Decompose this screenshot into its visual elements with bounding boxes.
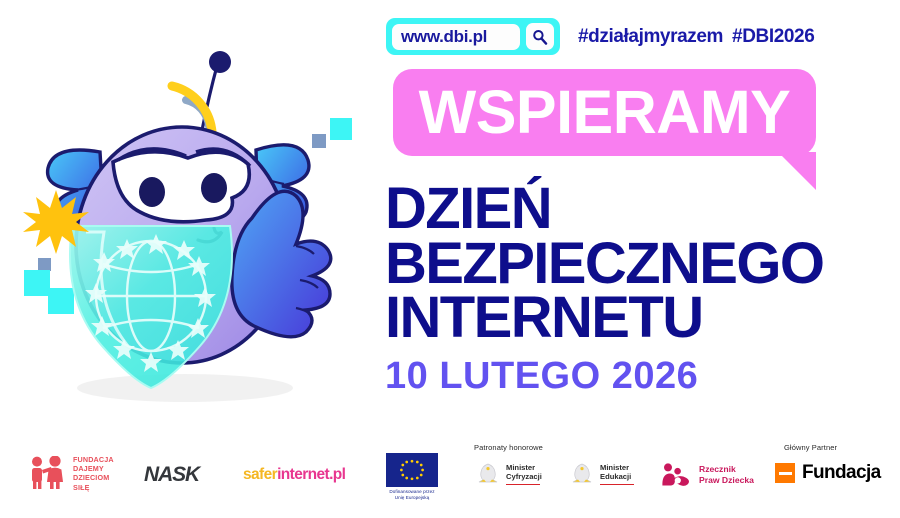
rpd-figures-icon [660, 462, 694, 488]
logo-fundacja-orange: Fundacja [775, 462, 881, 484]
minister-cyfryzacji-underline [506, 484, 540, 486]
fdds-line-1: FUNDACJA [73, 455, 114, 464]
saferinternet-part-2: internet.pl [277, 466, 345, 483]
logo-eu-funding: Dofinansowane przez Unię Europejską [386, 453, 438, 501]
eu-caption-line-2: Unię Europejską [389, 495, 434, 501]
minister-edukacji-line-2: Edukacji [600, 472, 634, 482]
hashtag-dzialajmyrazem: #działajmyrazem [578, 26, 723, 47]
speech-bubble: WSPIERAMY [393, 69, 816, 189]
headline-line-1: DZIEŃ [385, 182, 895, 237]
decor-star-icon [22, 188, 90, 256]
search-input[interactable]: www.dbi.pl [392, 24, 520, 50]
main-partner-label: Główny Partner [784, 443, 837, 452]
headline-block: DZIEŃ BEZPIECZNEGO INTERNETU 10 LUTEGO 2… [385, 182, 895, 398]
polish-eagle-icon [474, 460, 502, 488]
logo-nask: NASK [144, 463, 199, 487]
search-icon [532, 29, 548, 45]
search-input-value: www.dbi.pl [401, 27, 487, 47]
minister-cyfryzacji-line-2: Cyfryzacji [506, 472, 542, 482]
rpd-line-2: Praw Dziecka [699, 475, 754, 486]
eu-flag-icon [386, 453, 438, 487]
rpd-line-1: Rzecznik [699, 464, 754, 475]
fdds-line-3: DZIECIOM [73, 473, 114, 482]
logo-minister-cyfryzacji: Minister Cyfryzacji [474, 460, 542, 488]
logo-saferinternet: saferinternet.pl [243, 466, 345, 484]
minister-edukacji-line-1: Minister [600, 463, 634, 473]
footer-logos: FUNDACJA DAJEMY DZIECIOM SIŁĘ NASK safer… [0, 437, 900, 518]
saferinternet-part-1: safer [243, 466, 277, 483]
search-row: www.dbi.pl #działajmyrazem#DBI2026 [386, 18, 814, 55]
hashtags: #działajmyrazem#DBI2026 [578, 26, 814, 48]
search-button[interactable] [526, 23, 554, 50]
headline-line-3: INTERNETU [385, 291, 895, 346]
hashtag-dbi2026: #DBI2026 [732, 26, 814, 47]
event-date: 10 LUTEGO 2026 [385, 355, 895, 398]
fundacja-text: Fundacja [802, 462, 881, 484]
minister-cyfryzacji-line-1: Minister [506, 463, 542, 473]
polish-eagle-icon [568, 460, 596, 488]
fdds-line-4: SIŁĘ [73, 483, 114, 492]
headline-line-2: BEZPIECZNEGO [385, 237, 895, 292]
two-children-icon [26, 456, 68, 490]
fdds-line-2: DAJEMY [73, 464, 114, 473]
search-box: www.dbi.pl [386, 18, 560, 55]
logo-minister-edukacji: Minister Edukacji [568, 460, 634, 488]
speech-bubble-text: WSPIERAMY [419, 82, 791, 143]
speech-bubble-body: WSPIERAMY [393, 69, 816, 156]
nask-text: NASK [144, 463, 199, 487]
logo-rzecznik-praw-dziecka: Rzecznik Praw Dziecka [660, 462, 754, 488]
minister-edukacji-underline [600, 484, 634, 486]
orange-square-icon [775, 463, 795, 483]
security-shield-icon [70, 226, 232, 388]
patronage-label: Patronaty honorowe [474, 443, 543, 452]
logo-fdds: FUNDACJA DAJEMY DZIECIOM SIŁĘ [26, 455, 114, 492]
